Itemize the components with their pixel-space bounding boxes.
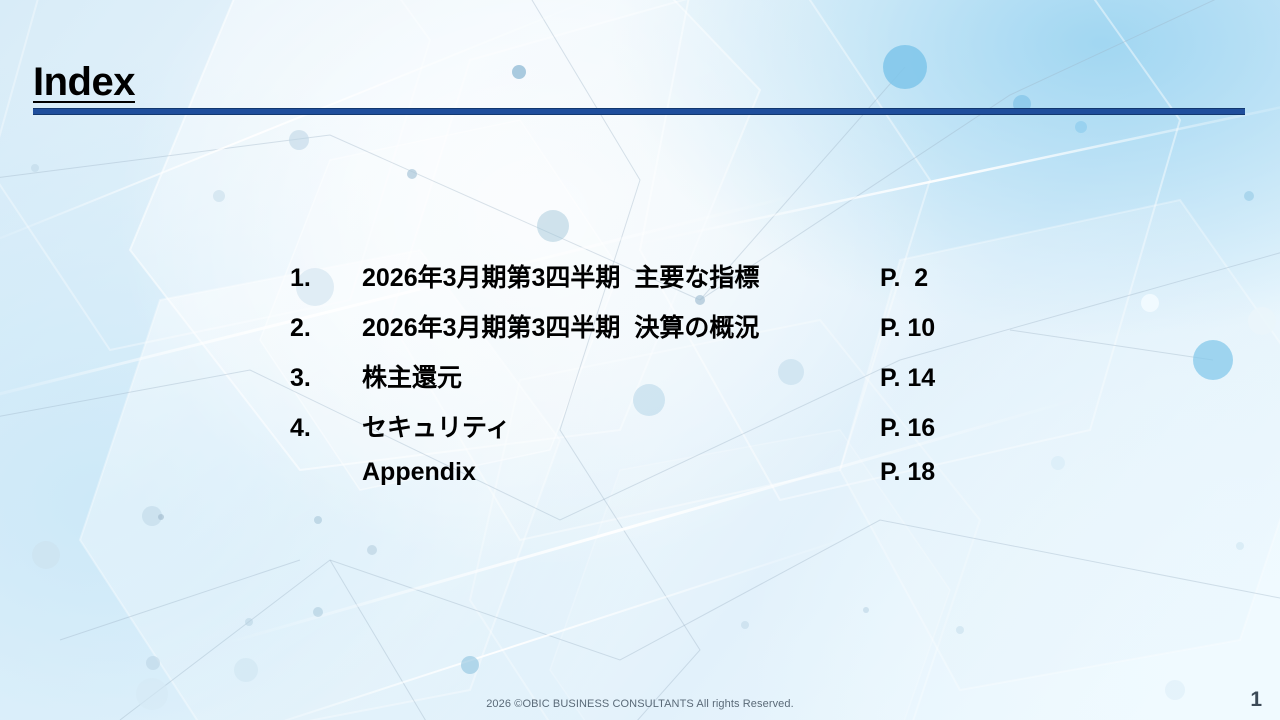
- list-item[interactable]: Appendix P. 18: [290, 458, 1010, 508]
- list-item[interactable]: 4. セキュリティ P. 16: [290, 408, 1010, 458]
- page-title: Index: [33, 62, 135, 102]
- list-item-label: Appendix: [362, 458, 880, 487]
- list-item-label: セキュリティ: [362, 408, 880, 444]
- list-item-page: P. 16: [880, 414, 935, 443]
- list-item-number: 1.: [290, 264, 362, 293]
- list-item-number: 2.: [290, 314, 362, 343]
- title-underline-rule: [33, 108, 1245, 115]
- slide-title-block: Index: [33, 62, 1245, 102]
- list-item[interactable]: 3. 株主還元 P. 14: [290, 358, 1010, 408]
- list-item-page: P. 2: [880, 264, 928, 293]
- slide-canvas: Index 1. 2026年3月期第3四半期 主要な指標 P. 2 2. 202…: [0, 0, 1280, 720]
- list-item-label: 株主還元: [362, 358, 880, 394]
- slide-page-number: 1: [1250, 688, 1262, 712]
- list-item-page: P. 18: [880, 458, 935, 487]
- list-item-number: 3.: [290, 364, 362, 393]
- list-item[interactable]: 1. 2026年3月期第3四半期 主要な指標 P. 2: [290, 258, 1010, 308]
- index-list: 1. 2026年3月期第3四半期 主要な指標 P. 2 2. 2026年3月期第…: [290, 258, 1010, 508]
- list-item[interactable]: 2. 2026年3月期第3四半期 決算の概況 P. 10: [290, 308, 1010, 358]
- list-item-page: P. 14: [880, 364, 935, 393]
- list-item-number: 4.: [290, 414, 362, 443]
- list-item-page: P. 10: [880, 314, 935, 343]
- list-item-label: 2026年3月期第3四半期 主要な指標: [362, 258, 880, 294]
- footer-copyright: 2026 ©OBIC BUSINESS CONSULTANTS All righ…: [0, 698, 1280, 710]
- list-item-label: 2026年3月期第3四半期 決算の概況: [362, 308, 880, 344]
